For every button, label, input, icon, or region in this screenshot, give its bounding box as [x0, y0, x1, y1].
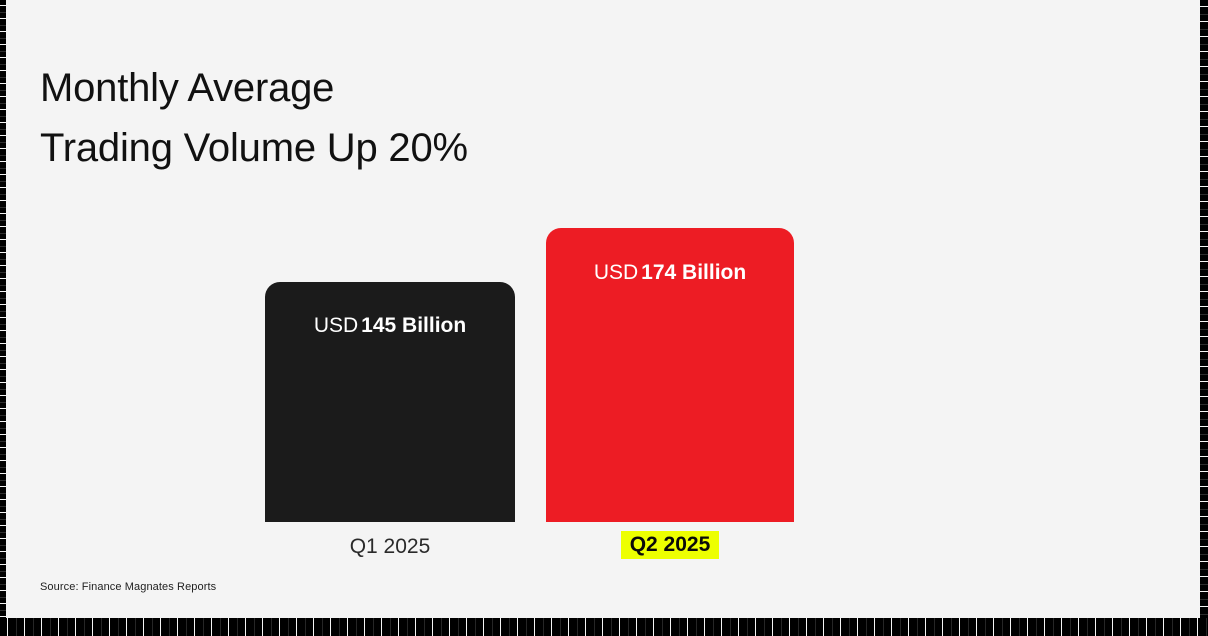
bar-chart: USD145 Billion USD174 Billion Q1 2025 Q2… — [0, 0, 1208, 636]
bar-q2-value-label: USD174 Billion — [546, 260, 794, 286]
source-note: Source: Finance Magnates Reports — [40, 580, 216, 594]
bar-q2-unit: USD — [594, 261, 638, 284]
film-strip-right-edge — [1200, 0, 1208, 636]
bar-q2-2025: USD174 Billion — [546, 228, 794, 522]
film-strip-left-edge — [0, 0, 6, 636]
category-label-q2-2025: Q2 2025 — [621, 531, 720, 559]
slide-canvas: Monthly Average Trading Volume Up 20% US… — [0, 0, 1208, 636]
bar-q2-amount: 174 Billion — [641, 261, 746, 284]
category-label-q2-2025-wrapper: Q2 2025 — [546, 531, 794, 559]
bar-q1-value-label: USD145 Billion — [265, 313, 515, 339]
category-label-q1-2025: Q1 2025 — [265, 533, 515, 560]
bar-q1-amount: 145 Billion — [361, 314, 466, 337]
film-strip-bottom-edge — [0, 618, 1208, 636]
bar-q1-2025: USD145 Billion — [265, 282, 515, 522]
bar-q1-unit: USD — [314, 314, 358, 337]
